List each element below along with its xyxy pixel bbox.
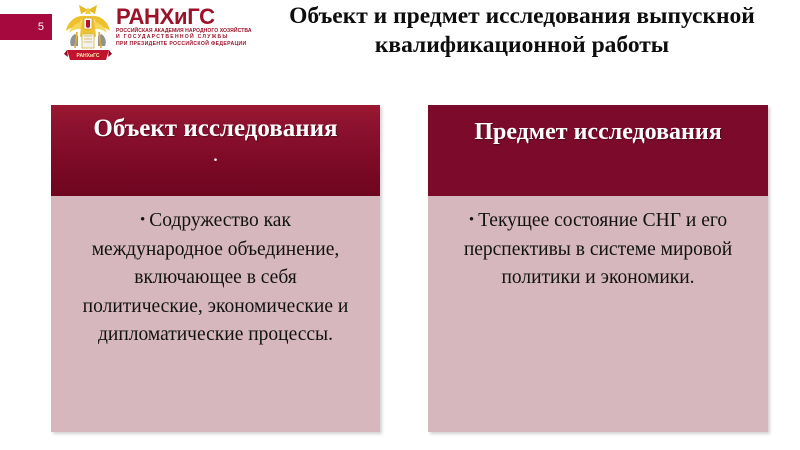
card-object-header-dot: . — [51, 144, 380, 170]
list-item: •Текущее состояние СНГ и его перспективы… — [446, 206, 750, 293]
svg-text:РАНХиГС: РАНХиГС — [77, 53, 100, 59]
card-object-bullet-list: •Содружество как международное объединен… — [69, 206, 362, 350]
slide-number-badge: 5 — [0, 14, 52, 40]
card-subject-bullet-list: •Текущее состояние СНГ и его перспективы… — [446, 206, 750, 293]
card-subject-body: •Текущее состояние СНГ и его перспективы… — [428, 196, 768, 293]
card-subject-of-research: Предмет исследования •Текущее состояние … — [428, 105, 768, 432]
slide-title: Объект и предмет исследования выпускной … — [252, 2, 792, 60]
list-item-text: Содружество как международное объединени… — [83, 210, 349, 345]
bullet-icon: • — [140, 212, 149, 228]
logo-text-block: РАНХиГС РОССИЙСКАЯ АКАДЕМИЯ НАРОДНОГО ХО… — [116, 2, 252, 47]
list-item-text: Текущее состояние СНГ и его перспективы … — [464, 210, 732, 288]
list-item: •Содружество как международное объединен… — [69, 206, 362, 350]
card-subject-header: Предмет исследования — [428, 105, 768, 196]
bullet-icon: • — [469, 212, 478, 228]
card-object-of-research: Объект исследования . •Содружество как м… — [51, 105, 380, 432]
logo-subline-president: ПРИ ПРЕЗИДЕНТЕ РОССИЙСКОЙ ФЕДЕРАЦИИ — [116, 41, 252, 47]
card-object-header: Объект исследования . — [51, 105, 380, 196]
card-object-header-text: Объект исследования — [93, 115, 337, 142]
card-subject-header-text: Предмет исследования — [474, 119, 721, 145]
logo-wordmark: РАНХиГС — [116, 6, 252, 28]
ranepa-logo: РАНХиГС РАНХиГС РОССИЙСКАЯ АКАДЕМИЯ НАРО… — [62, 2, 242, 68]
double-headed-eagle-emblem-icon: РАНХиГС — [62, 2, 114, 66]
card-object-body: •Содружество как международное объединен… — [51, 196, 380, 350]
